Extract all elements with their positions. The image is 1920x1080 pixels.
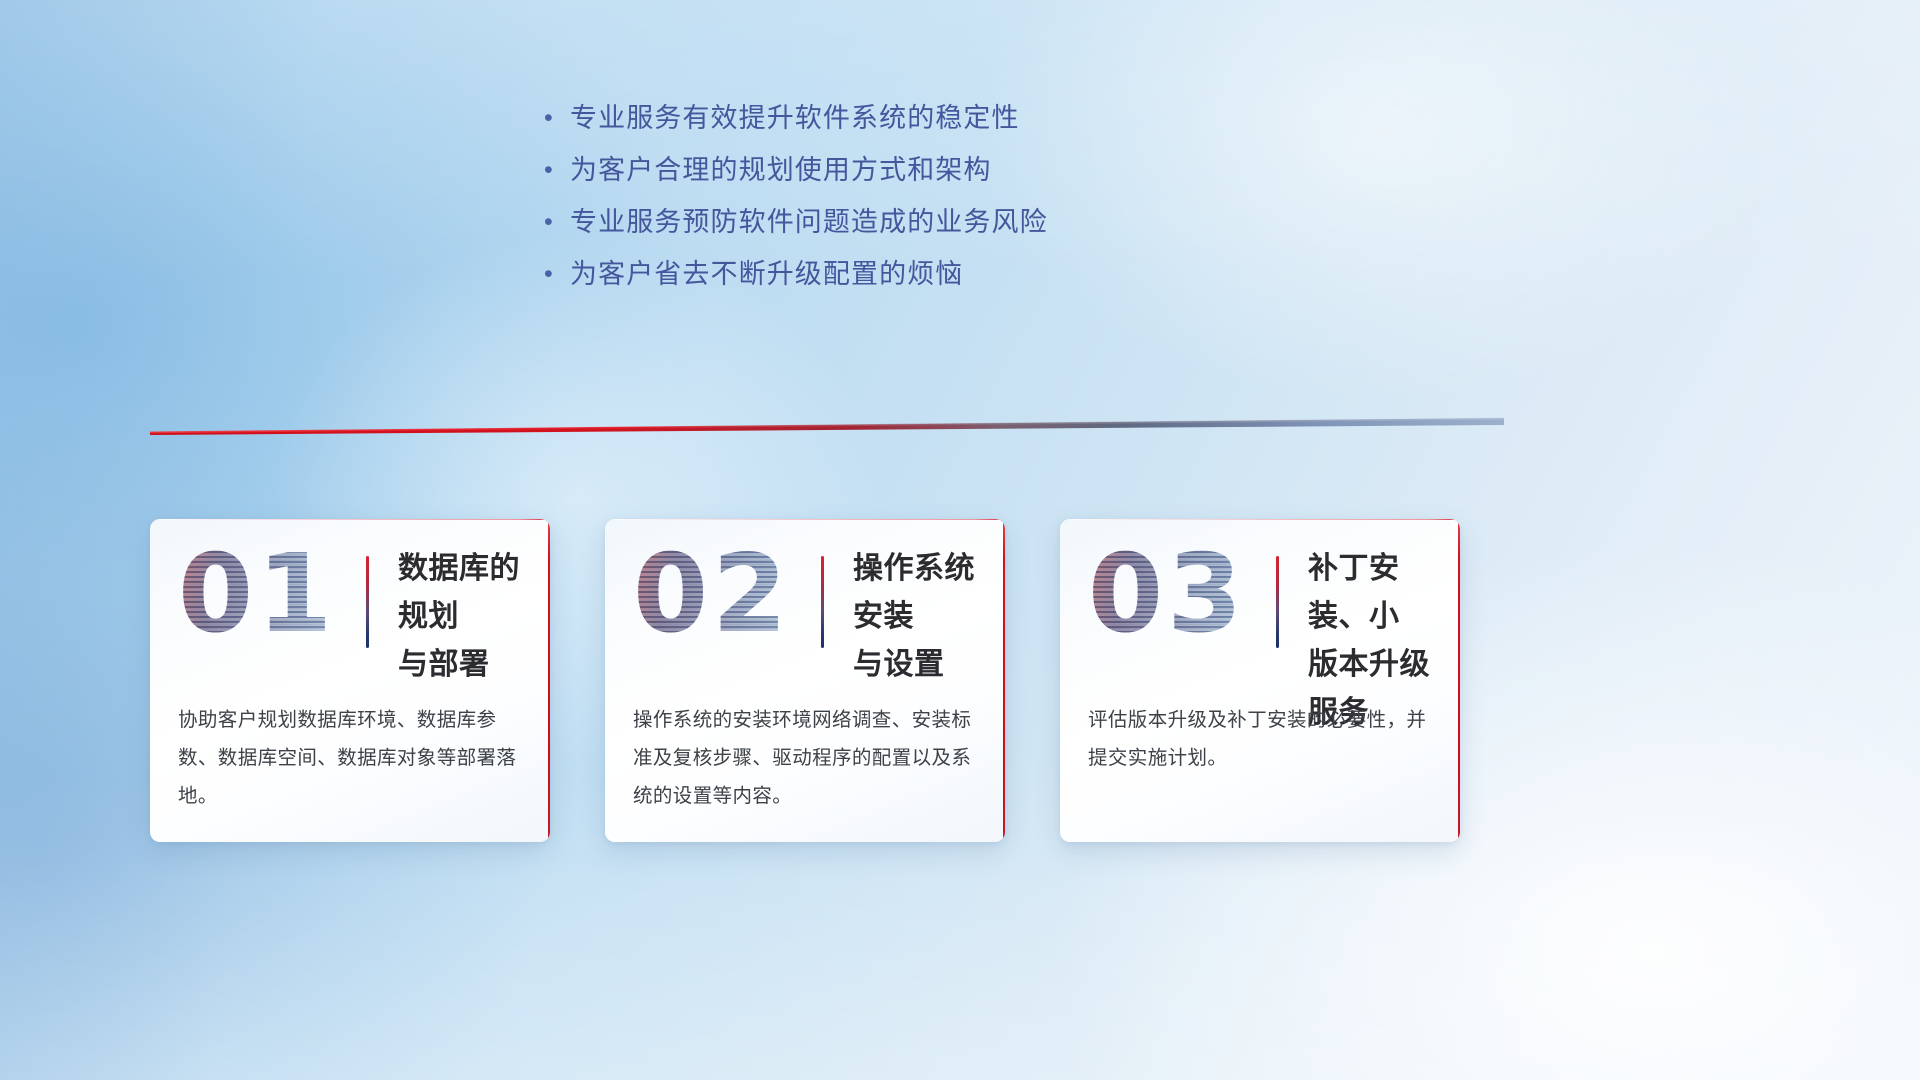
card-accent-rule: [821, 556, 824, 648]
bullet-dot-icon: •: [536, 196, 570, 248]
card-header: 03 03 补丁安装、小 版本升级服务: [1060, 519, 1460, 691]
card-body-text: 协助客户规划数据库环境、数据库参数、数据库空间、数据库对象等部署落地。: [178, 701, 524, 815]
section-divider: [150, 414, 1504, 436]
service-card-03[interactable]: 03 03 补丁安装、小 版本升级服务 评估版本升级及补丁安装的必要性，并提交实…: [1060, 519, 1460, 842]
bullet-text: 专业服务有效提升软件系统的稳定性: [570, 92, 1020, 144]
card-header: 02 02 操作系统安装 与设置: [605, 519, 1005, 691]
list-item: • 为客户省去不断升级配置的烦恼: [536, 248, 1256, 300]
card-number-overlay: 03: [1088, 541, 1246, 649]
bullet-dot-icon: •: [536, 92, 570, 144]
card-number-watermark: 02 02: [633, 541, 808, 661]
list-item: • 专业服务有效提升软件系统的稳定性: [536, 92, 1256, 144]
card-title: 操作系统安装 与设置: [853, 545, 993, 689]
card-title-line-2: 与设置: [853, 641, 993, 689]
bullet-text: 为客户省去不断升级配置的烦恼: [570, 248, 963, 300]
card-title: 数据库的规划 与部署: [398, 545, 538, 689]
card-title-line-1: 补丁安装、小: [1308, 545, 1448, 641]
card-title-line-1: 数据库的规划: [398, 545, 538, 641]
card-title-line-2: 与部署: [398, 641, 538, 689]
card-body-text: 操作系统的安装环境网络调查、安装标准及复核步骤、驱动程序的配置以及系统的设置等内…: [633, 701, 979, 815]
card-accent-rule: [366, 556, 369, 648]
card-header: 01 01 数据库的规划 与部署: [150, 519, 550, 691]
card-title-line-1: 操作系统安装: [853, 545, 993, 641]
service-card-02[interactable]: 02 02 操作系统安装 与设置 操作系统的安装环境网络调查、安装标准及复核步骤…: [605, 519, 1005, 842]
bullet-dot-icon: •: [536, 248, 570, 300]
card-row: 01 01 数据库的规划 与部署 协助客户规划数据库环境、数据库参数、数据库空间…: [150, 519, 1460, 842]
card-number-watermark: 01 01: [178, 541, 353, 661]
section-divider-shape: [150, 414, 1504, 436]
card-number-overlay: 02: [633, 541, 791, 649]
card-number-overlay: 01: [178, 541, 336, 649]
bullet-text: 为客户合理的规划使用方式和架构: [570, 144, 992, 196]
bullet-dot-icon: •: [536, 144, 570, 196]
card-accent-rule: [1276, 556, 1279, 648]
bullet-text: 专业服务预防软件问题造成的业务风险: [570, 196, 1048, 248]
list-item: • 专业服务预防软件问题造成的业务风险: [536, 196, 1256, 248]
service-card-01[interactable]: 01 01 数据库的规划 与部署 协助客户规划数据库环境、数据库参数、数据库空间…: [150, 519, 550, 842]
card-body-text: 评估版本升级及补丁安装的必要性，并提交实施计划。: [1088, 701, 1434, 777]
card-number-watermark: 03 03: [1088, 541, 1263, 661]
list-item: • 为客户合理的规划使用方式和架构: [536, 144, 1256, 196]
bullet-list: • 专业服务有效提升软件系统的稳定性 • 为客户合理的规划使用方式和架构 • 专…: [536, 92, 1256, 300]
